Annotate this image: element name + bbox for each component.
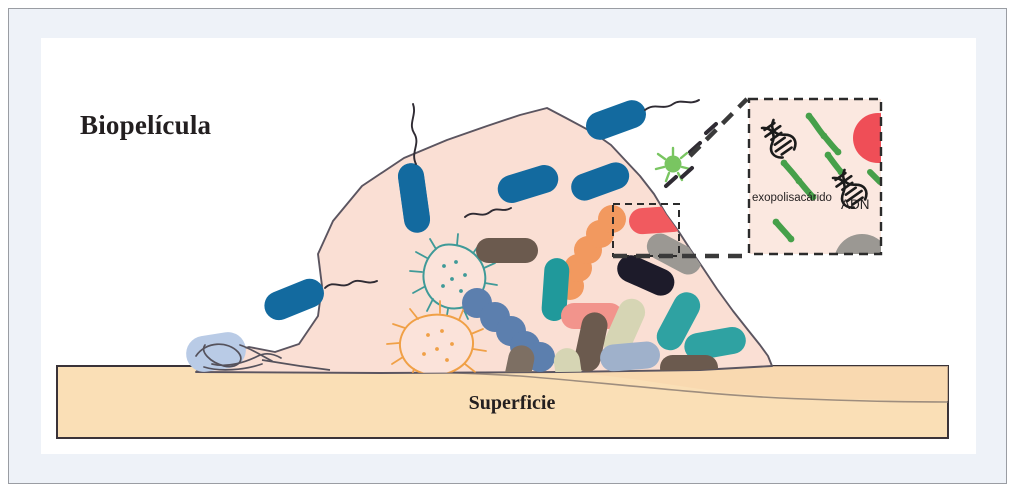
diagram-scene bbox=[0, 0, 1024, 499]
callout-leader-top bbox=[690, 99, 747, 156]
inset-bacterium-red bbox=[853, 113, 903, 163]
label-dna: ADN bbox=[841, 197, 870, 212]
bacterium-flagellated-blue bbox=[582, 96, 699, 144]
label-surface: Superficie bbox=[0, 392, 1024, 415]
bacterium-brown-rod bbox=[476, 238, 538, 263]
biofilm-figure: Biopelícula Superficie exopolisacárido A… bbox=[0, 0, 1024, 499]
label-exopolysaccharide: exopolisacárido bbox=[752, 192, 832, 204]
page-title-biofilm: Biopelícula bbox=[80, 110, 211, 141]
